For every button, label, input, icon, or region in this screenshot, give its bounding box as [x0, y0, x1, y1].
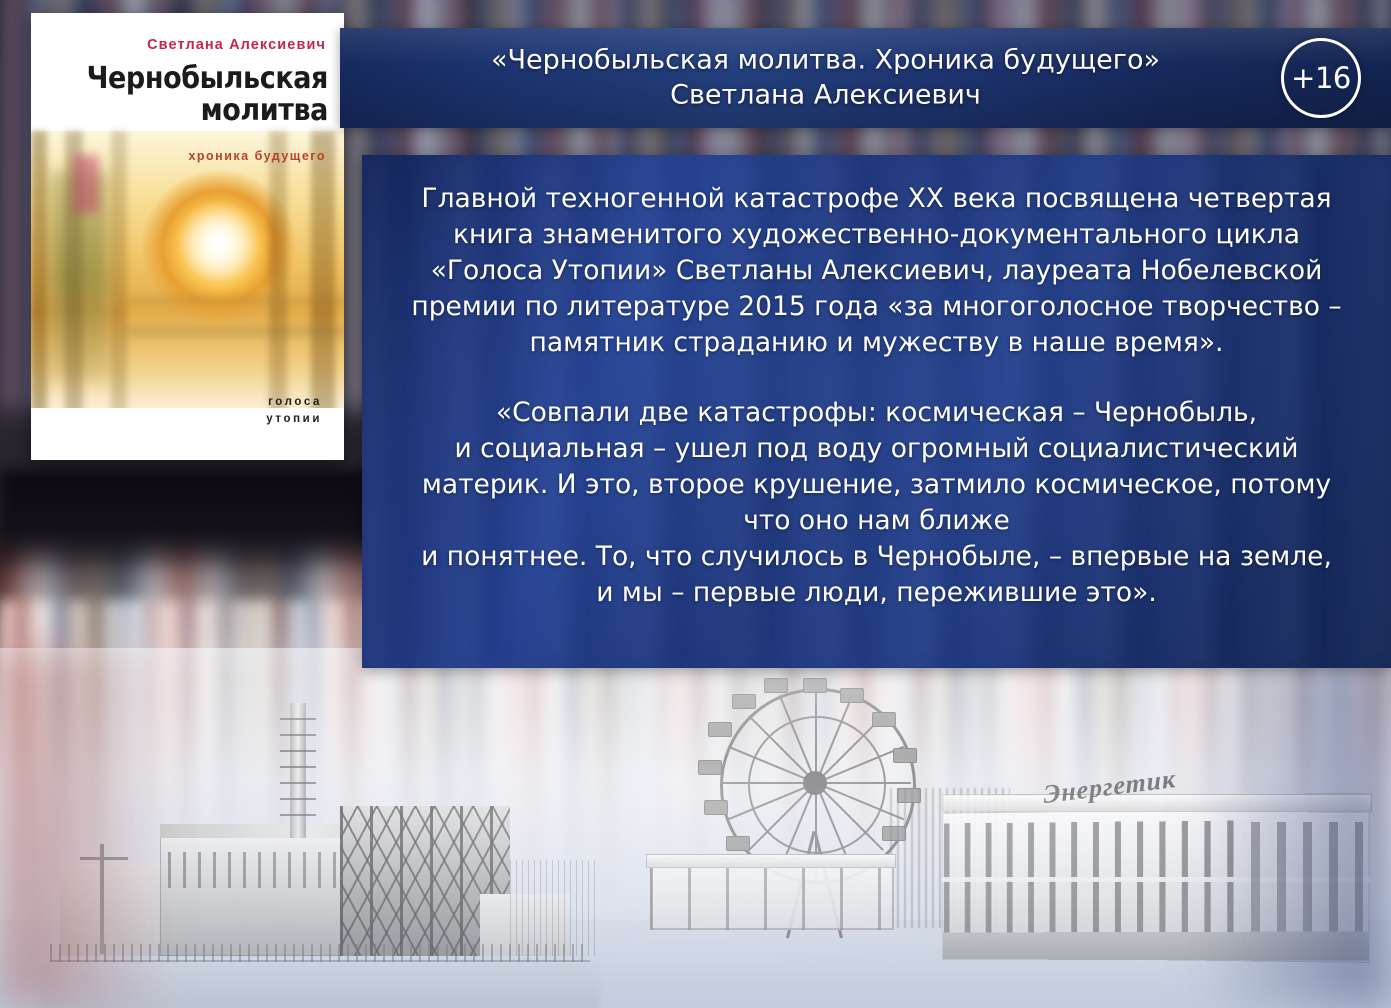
book-cover-author: Светлана Алексиевич	[31, 37, 326, 53]
age-rating-badge: +16	[1281, 38, 1361, 118]
photo-montage-right-tint	[1191, 648, 1391, 1008]
book-cover-series: голоса утопии	[266, 394, 322, 429]
presentation-slide: Энергетик Светлана Алексиевич Чернобыльс…	[0, 0, 1391, 1008]
quote-line: что оно нам ближе	[396, 503, 1357, 539]
chernobyl-photo-montage: Энергетик	[0, 648, 1391, 1008]
book-cover-subtitle: хроника будущего	[31, 149, 326, 163]
header-title-line2: Светлана Алексиевич	[400, 78, 1251, 113]
annotation-line: «Голоса Утопии» Светланы Алексиевич, лау…	[396, 253, 1357, 289]
header-title-block: «Чернобыльская молитва. Хроника будущего…	[400, 43, 1251, 112]
header-title-line1: «Чернобыльская молитва. Хроника будущего…	[400, 43, 1251, 78]
photo-montage-haze	[0, 648, 1391, 1008]
quote-line: и мы – первые люди, пережившие это».	[396, 575, 1357, 611]
book-cover-series-line1: голоса	[268, 396, 322, 408]
annotation-paragraph: Главной техногенной катастрофе ХХ века п…	[362, 181, 1391, 361]
header-banner: «Чернобыльская молитва. Хроника будущего…	[340, 28, 1391, 128]
quote-line: и социальная – ушел под воду огромный со…	[396, 431, 1357, 467]
book-cover-title-line1: Чернобыльская	[87, 61, 328, 96]
quote-line: материк. И это, второе крушение, затмило…	[396, 467, 1357, 503]
annotation-line: памятник страданию и мужеству в наше вре…	[396, 325, 1357, 361]
quote-line: «Совпали две катастрофы: космическая – Ч…	[396, 395, 1357, 431]
annotation-line: Главной техногенной катастрофе ХХ века п…	[396, 181, 1357, 217]
book-cover-title: Чернобыльская молитва	[45, 63, 328, 127]
annotation-line: премии по литературе 2015 года «за много…	[396, 289, 1357, 325]
annotation-line: книга знаменитого художественно-документ…	[396, 217, 1357, 253]
quote-paragraph: «Совпали две катастрофы: космическая – Ч…	[362, 395, 1391, 611]
book-cover-title-line2: молитва	[201, 93, 328, 128]
description-panel: Главной техногенной катастрофе ХХ века п…	[362, 155, 1391, 668]
photo-montage-left-tint	[0, 648, 170, 1008]
book-cover: Светлана Алексиевич Чернобыльская молитв…	[31, 13, 344, 460]
book-cover-sun-glow	[31, 131, 344, 421]
book-cover-series-line2: утопии	[266, 413, 322, 425]
quote-line: и понятнее. То, что случилось в Чернобыл…	[396, 539, 1357, 575]
